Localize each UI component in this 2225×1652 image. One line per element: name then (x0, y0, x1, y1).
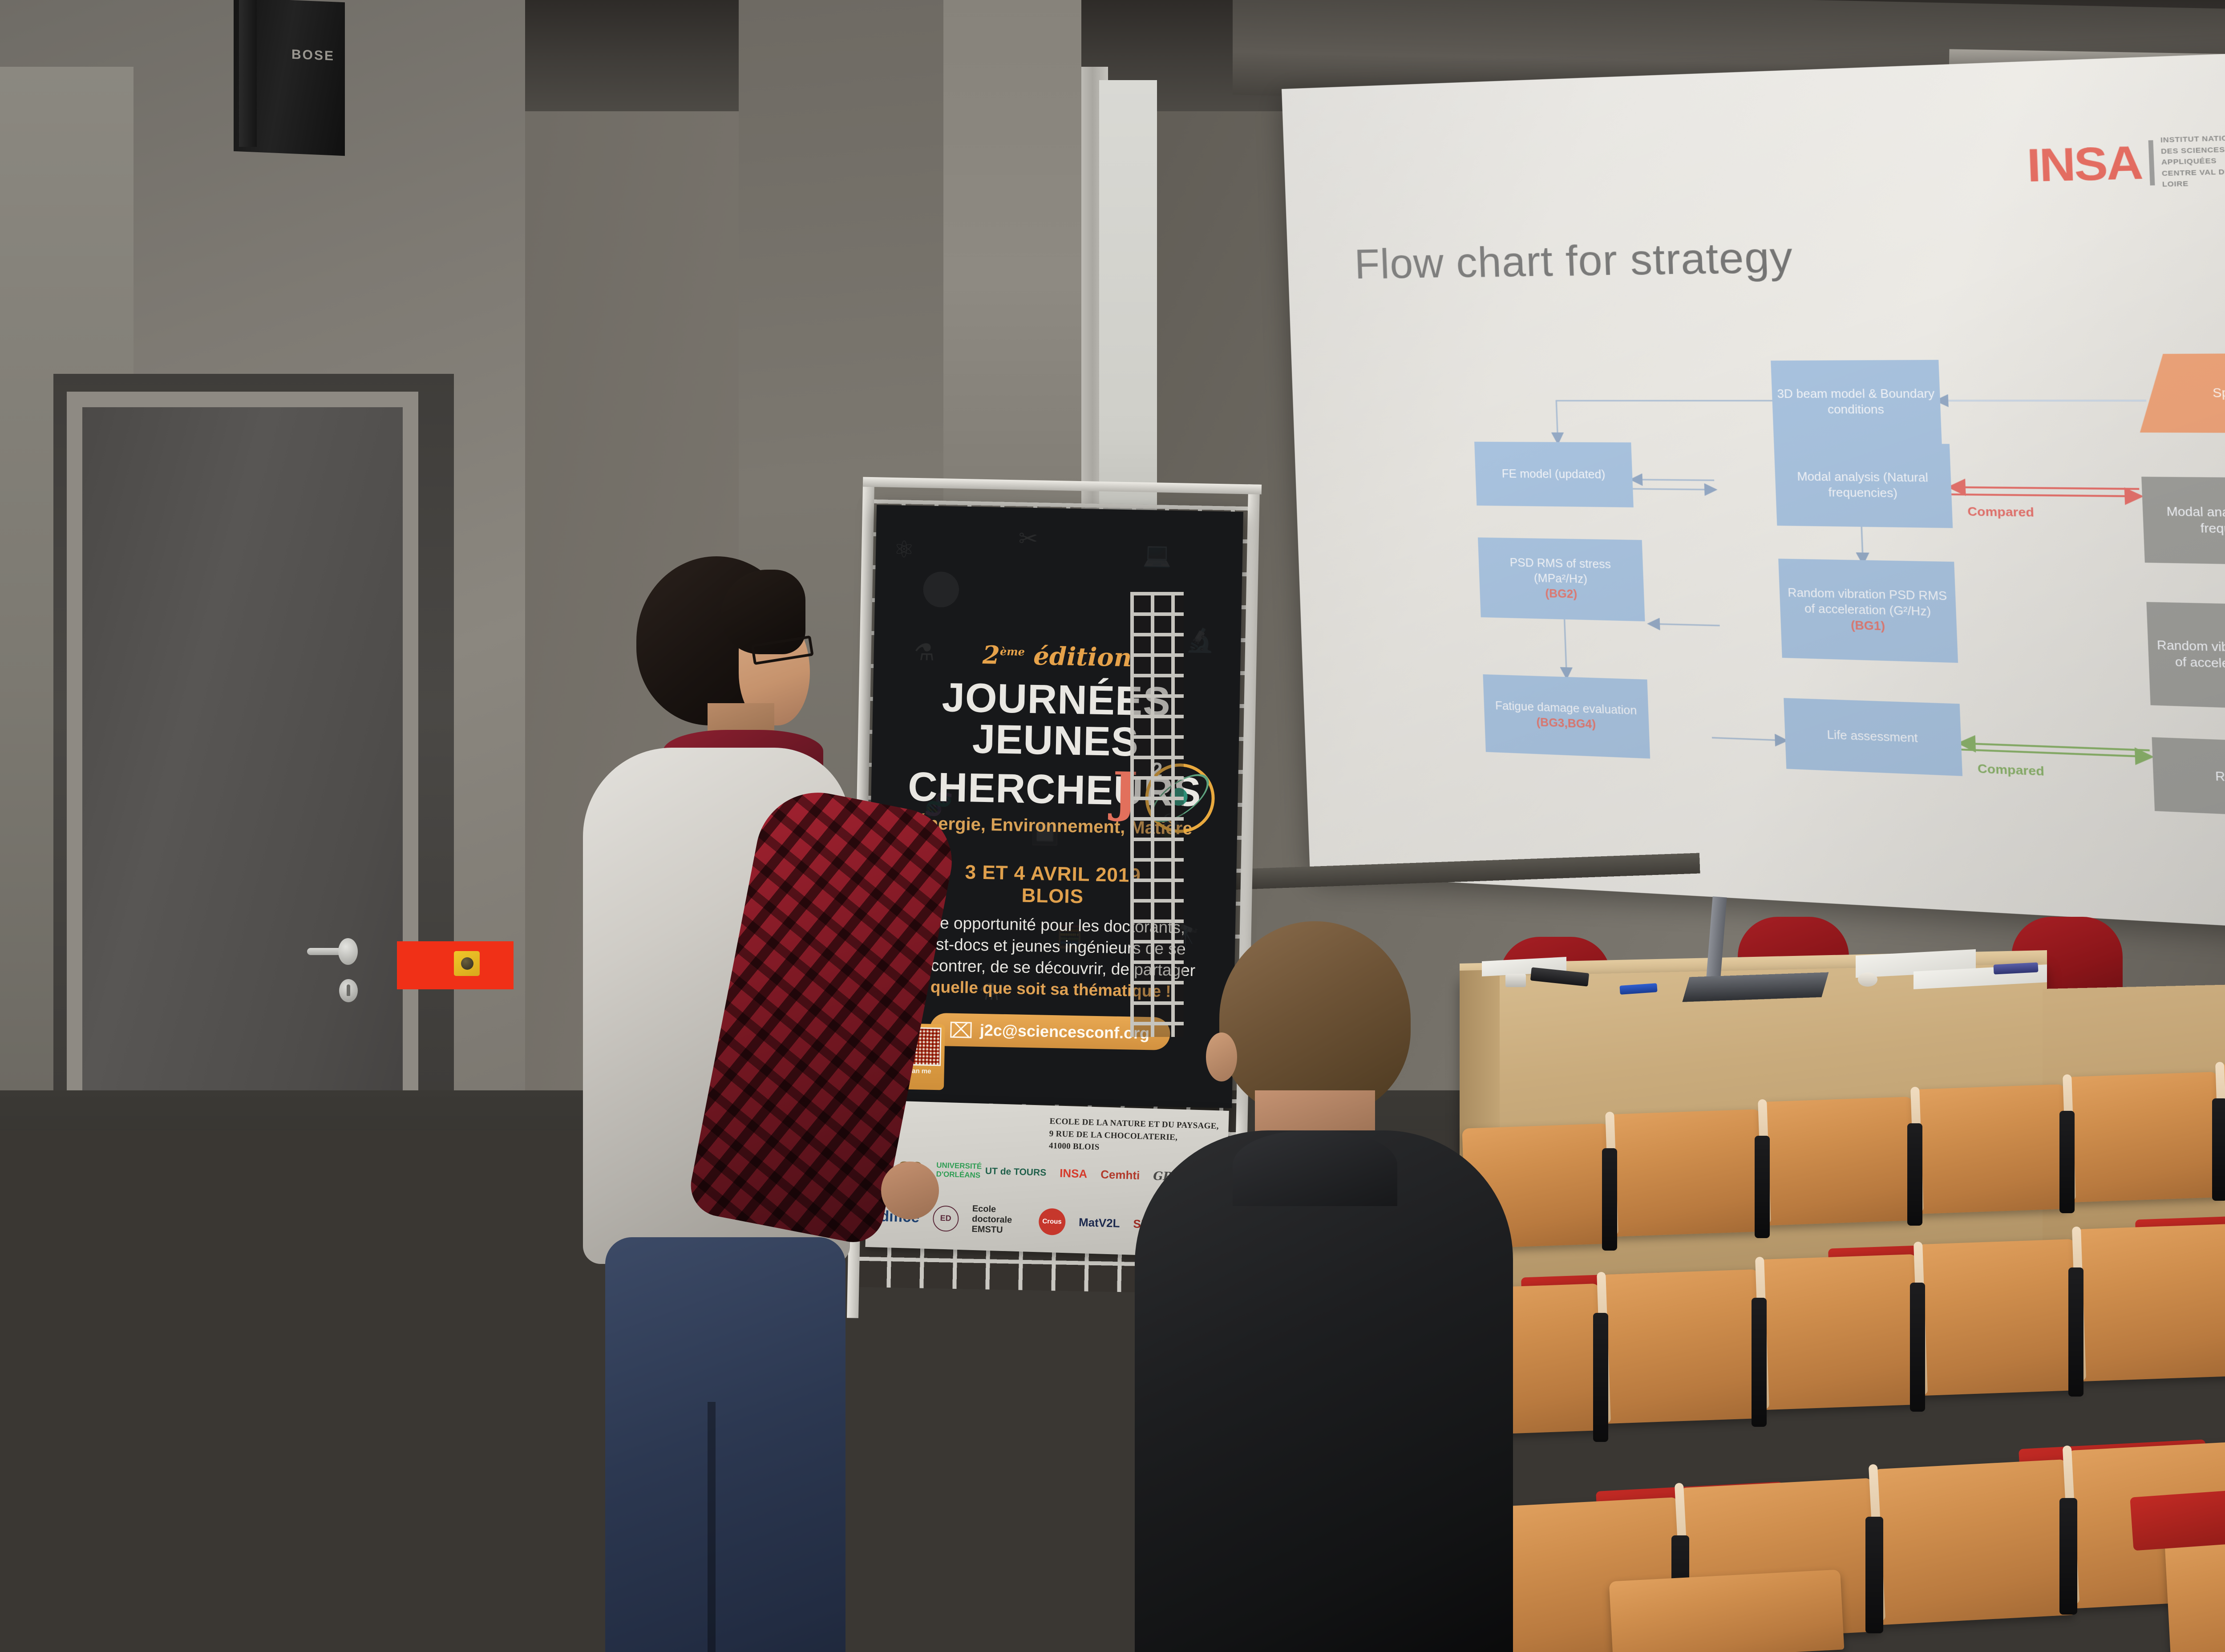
seat-middle[interactable] (1600, 1269, 1763, 1424)
seat-middle[interactable] (1759, 1254, 1922, 1410)
flow-node-repeat-life: Repeat life (2152, 737, 2225, 819)
laptop-keyboard[interactable] (1682, 972, 1829, 1002)
node-label: Specimen (2213, 385, 2225, 401)
auditorium-seating (1464, 1099, 2225, 1652)
edge-label-compared-life: Compared (1977, 761, 2044, 779)
poster-edition-number: 2 (982, 640, 1000, 670)
audience-ear (1206, 1032, 1237, 1081)
presenter (530, 556, 975, 1652)
seat-back[interactable] (1761, 1097, 1916, 1226)
sponsor-logo: INSA (1060, 1166, 1088, 1181)
sponsor-logo: MatV2L (1079, 1215, 1120, 1231)
node-label: FE model (updated) (1501, 466, 1606, 482)
seat-back[interactable] (1609, 1109, 1764, 1237)
flow-node-modal-analysis: Modal analysis (Natural frequencies) (1774, 443, 1953, 528)
wall-panel (943, 0, 1081, 561)
flow-node-fe-model: FE model (updated) (1474, 442, 1634, 508)
node-label: Fatigue damage evaluation (1495, 698, 1637, 718)
seat-front[interactable] (1873, 1459, 2075, 1625)
flow-node-modal-analysis-exp: Modal analysis (Natural frequencies) (2141, 477, 2225, 566)
emergency-stop-knob-icon[interactable] (461, 957, 473, 970)
node-label: Repeat life (2215, 769, 2225, 788)
node-label: Random vibration PSD RMS of acceleration… (1784, 585, 1951, 620)
seat-frame (1752, 1298, 1767, 1427)
node-label: 3D beam model & Boundary conditions (1776, 386, 1935, 417)
seat-frame (1755, 1136, 1770, 1238)
sponsor-logo: UT de TOURS (985, 1166, 1047, 1178)
node-tag: (BG1) (1850, 618, 1885, 634)
slide: Flow chart for strategy INSA INSTITUT NA… (1282, 41, 2225, 947)
audience-member (1121, 921, 1522, 1651)
flow-node-life-assessment: Life assessment (1784, 698, 1962, 776)
flow-node-specimen: Specimen (2140, 353, 2225, 433)
flow-node-fatigue-damage: Fatigue damage evaluation (BG3,BG4) (1483, 674, 1650, 758)
node-tag: (BG3,BG4) (1536, 715, 1596, 733)
sponsor-logo: Crous (1038, 1208, 1066, 1235)
flow-node-3d-beam-model: 3D beam model & Boundary conditions (1771, 360, 1942, 444)
seat-frame (1593, 1313, 1608, 1442)
audience-head (1219, 921, 1411, 1117)
seat-middle[interactable] (2075, 1224, 2225, 1381)
flow-node-random-vibration: Random vibration PSD RMS of acceleration… (1778, 559, 1958, 663)
door-handle-rose (338, 938, 358, 965)
speaker-brand-label: BOSE (291, 47, 340, 65)
sponsor-logo: Ecole doctorale EMSTU (971, 1204, 1026, 1236)
lecture-hall-photo: BOSE Flow chart for strategy INSA INSTIT… (0, 0, 2225, 1652)
node-label: PSD RMS of stress (MPa²/Hz) (1483, 555, 1639, 588)
seat-frame (1910, 1283, 1925, 1412)
door[interactable] (82, 407, 403, 1206)
poster-edition-suffix: ème (1000, 645, 1025, 658)
seat-frame (1907, 1123, 1922, 1226)
seat-back[interactable] (2066, 1072, 2222, 1203)
seat-frame (2059, 1111, 2075, 1213)
node-label: Life assessment (1827, 727, 1918, 746)
flow-node-random-vibration-exp: Random vibration PSD RMS of acceleration… (2146, 602, 2225, 712)
edge-label-compared-modal: Compared (1967, 504, 2035, 520)
seat-back[interactable] (1913, 1084, 2069, 1214)
flow-node-psd-rms-stress: PSD RMS of stress (MPa²/Hz) (BG2) (1478, 538, 1645, 622)
seat-frame (2059, 1498, 2077, 1615)
seat-frame (2212, 1098, 2225, 1201)
door-lock-icon[interactable] (339, 979, 358, 1002)
node-label: Random vibration PSD RMS of acceleration… (2153, 637, 2225, 675)
seat-frame (1602, 1148, 1617, 1251)
node-label: Modal analysis (Natural frequencies) (1780, 469, 1947, 502)
presenter-jeans (605, 1237, 845, 1652)
seat-frame (1865, 1517, 1883, 1633)
seat-foreground[interactable] (1609, 1570, 1845, 1652)
flowchart: 3D beam model & Boundary conditions FE m… (1282, 41, 2225, 947)
poster-edition-word: édition (1033, 641, 1132, 672)
seat-frame (2068, 1267, 2083, 1397)
presenter-hand (881, 1162, 939, 1219)
audience-collar (1233, 1130, 1397, 1206)
speaker-edge (239, 0, 257, 147)
presenter-leg-seam (708, 1402, 716, 1652)
seat-middle[interactable] (1917, 1239, 2080, 1396)
desk-cup (1858, 972, 1877, 987)
projection-screen: Flow chart for strategy INSA INSTITUT NA… (1282, 41, 2225, 947)
audience-jacket (1135, 1130, 1513, 1652)
node-tag: (BG2) (1545, 586, 1578, 602)
node-label: Modal analysis (Natural frequencies) (2148, 503, 2225, 539)
